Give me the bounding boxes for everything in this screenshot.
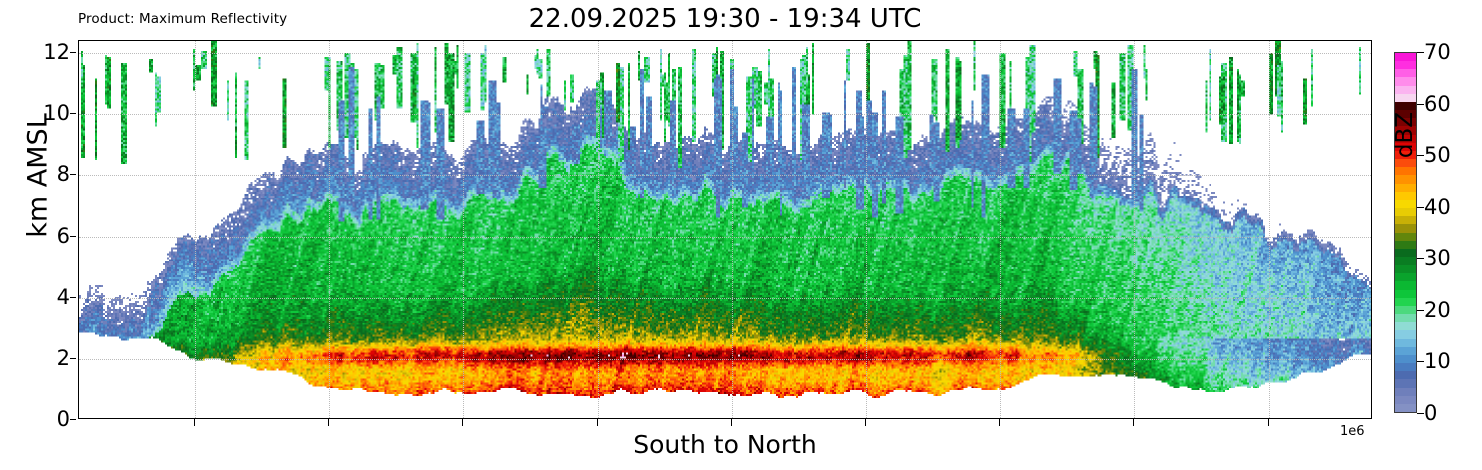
y-tick-label: 0 xyxy=(57,407,70,431)
colorbar-tick-label: 40 xyxy=(1424,195,1451,219)
y-tick-mark xyxy=(70,236,76,237)
plot-area xyxy=(78,40,1372,419)
colorbar-tick-mark xyxy=(1417,310,1424,311)
colorbar-tick-mark xyxy=(1417,104,1424,105)
x-tick-mark xyxy=(1133,419,1134,426)
x-tick-mark xyxy=(597,419,598,426)
colorbar-ticks: 010203040506070 xyxy=(1394,0,1482,470)
x-tick-mark xyxy=(999,419,1000,426)
y-tick-mark xyxy=(70,419,76,420)
x-axis-offset-text: 1e6 xyxy=(1340,424,1365,439)
y-tick-mark xyxy=(70,297,76,298)
colorbar-tick-label: 20 xyxy=(1424,298,1451,322)
x-axis-label: South to North xyxy=(78,430,1372,459)
colorbar-tick-mark xyxy=(1417,207,1424,208)
colorbar-tick-mark xyxy=(1417,258,1424,259)
y-tick-label: 6 xyxy=(57,224,70,248)
y-tick-mark xyxy=(70,174,76,175)
colorbar-tick-label: 0 xyxy=(1424,401,1437,425)
colorbar-tick-label: 70 xyxy=(1424,40,1451,64)
colorbar-tick-label: 60 xyxy=(1424,92,1451,116)
y-tick-label: 10 xyxy=(43,101,70,125)
y-tick-label: 2 xyxy=(57,346,70,370)
x-tick-mark xyxy=(731,419,732,426)
colorbar-tick-mark xyxy=(1417,52,1424,53)
y-tick-mark xyxy=(70,113,76,114)
reflectivity-raster xyxy=(79,41,1371,418)
colorbar-tick-mark xyxy=(1417,361,1424,362)
colorbar-tick-label: 10 xyxy=(1424,349,1451,373)
colorbar-tick-mark xyxy=(1417,413,1424,414)
x-tick-mark xyxy=(865,419,866,426)
page-title: 22.09.2025 19:30 - 19:34 UTC xyxy=(78,4,1372,34)
y-tick-label: 12 xyxy=(43,40,70,64)
x-tick-mark xyxy=(328,419,329,426)
x-tick-mark xyxy=(462,419,463,426)
radar-cross-section-figure: Product: Maximum Reflectivity 22.09.2025… xyxy=(0,0,1482,470)
y-axis-ticks: 024681012 xyxy=(0,0,70,470)
colorbar-label: dBZ xyxy=(1392,75,1418,195)
colorbar-tick-label: 50 xyxy=(1424,143,1451,167)
x-tick-mark xyxy=(194,419,195,426)
y-tick-mark xyxy=(70,52,76,53)
x-tick-mark xyxy=(1268,419,1269,426)
colorbar-tick-mark xyxy=(1417,155,1424,156)
colorbar-tick-label: 30 xyxy=(1424,246,1451,270)
y-tick-mark xyxy=(70,358,76,359)
y-tick-label: 8 xyxy=(57,162,70,186)
y-tick-label: 4 xyxy=(57,285,70,309)
